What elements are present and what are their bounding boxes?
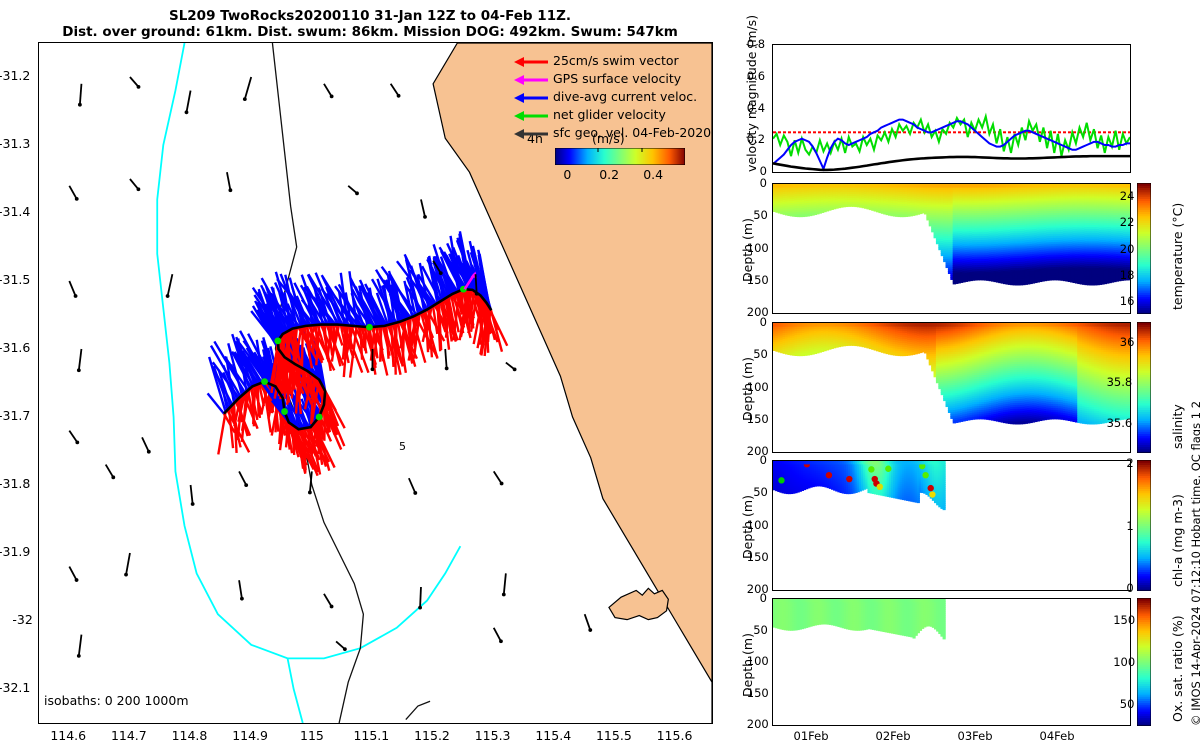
- sfc-geo-arrow-head: [418, 606, 422, 610]
- sfc-geo-velocity-arrow: [391, 84, 399, 96]
- sfc-geo-arrow-head: [78, 103, 82, 107]
- sfc-geo-velocity-arrow: [494, 471, 502, 483]
- sfc-geo-arrow-head: [240, 597, 244, 601]
- swim-vector: [386, 325, 388, 358]
- sfc-geo-arrow-head: [77, 654, 81, 658]
- map-x-tick: 114.6: [50, 728, 86, 743]
- map-y-tick: -31.9: [0, 544, 30, 559]
- legend-item-1: GPS surface velocity: [512, 70, 712, 88]
- map-y-tick: -31.6: [0, 340, 30, 355]
- velocity-magnitude-panel[interactable]: [772, 44, 1131, 173]
- swim-vector: [308, 427, 309, 458]
- sfc-geo-velocity-arrow: [476, 274, 477, 294]
- sfc-geo-arrow-head: [371, 367, 375, 371]
- contour-label-5: 5: [399, 440, 406, 453]
- legend-item-3: net glider velocity: [512, 106, 712, 124]
- sfc-geo-arrow-head: [445, 367, 449, 371]
- sfc-geo-velocity-arrow: [130, 179, 138, 189]
- sfc-geo-arrow-head: [513, 367, 517, 371]
- sfc-geo-arrow-head: [355, 191, 359, 195]
- sfc-geo-velocity-arrow: [227, 172, 230, 190]
- legend-item-2: dive-avg current veloc.: [512, 88, 712, 106]
- legend-item-label: sfc geo. vel. 04-Feb-2020: [553, 125, 711, 140]
- net-glider-velocity-marker: [274, 337, 281, 344]
- sfc-geo-arrow-head: [137, 85, 141, 89]
- sfc-geo-arrow-head: [75, 578, 79, 582]
- map-x-tick: 115.3: [475, 728, 511, 743]
- sfc-geo-arrow-head: [413, 491, 417, 495]
- map-x-tick: 114.9: [232, 728, 268, 743]
- legend-colorbar-tick: 0: [563, 167, 571, 182]
- net-glider-velocity-marker: [261, 378, 268, 385]
- sfc-geo-arrow-head: [228, 188, 232, 192]
- sfc-geo-arrow-head: [330, 94, 334, 98]
- map-y-tick: -32: [12, 612, 32, 627]
- sfc-geo-velocity-arrow: [494, 628, 501, 641]
- map-legend: 25cm/s swim vectorGPS surface velocitydi…: [512, 52, 712, 142]
- sfc-geo-arrow-head: [308, 491, 312, 495]
- sfc-geo-velocity-arrow: [69, 281, 75, 296]
- legend-item-label: 25cm/s swim vector: [553, 53, 679, 68]
- map-x-tick: 115.5: [596, 728, 632, 743]
- swim-vector: [380, 326, 381, 362]
- sfc-geo-velocity-arrow: [142, 437, 149, 451]
- map-y-tick: -31.7: [0, 408, 30, 423]
- sfc-geo-arrow-head: [502, 593, 506, 597]
- map-x-tick: 115.1: [353, 728, 389, 743]
- sfc-geo-velocity-arrow: [79, 635, 82, 656]
- legend-item-0: 25cm/s swim vector: [512, 52, 712, 70]
- map-y-tick: -31.5: [0, 272, 30, 287]
- map-x-tick: 115.2: [414, 728, 450, 743]
- island-polygon: [609, 588, 668, 619]
- sfc-geo-arrow-head: [588, 628, 592, 632]
- arrow-left-icon: [512, 108, 550, 124]
- map-y-tick: -31.4: [0, 204, 30, 219]
- sfc-geo-velocity-arrow: [191, 485, 193, 504]
- sfc-geo-velocity-arrow: [80, 84, 82, 105]
- sfc-geo-arrow-head: [343, 647, 347, 651]
- sfc-geo-velocity-arrow: [186, 91, 190, 113]
- map-y-tick: -31.2: [0, 68, 30, 83]
- swim-vector: [391, 324, 393, 367]
- sfc-geo-arrow-head: [166, 294, 170, 298]
- sfc-geo-velocity-arrow: [504, 573, 506, 594]
- sfc-geo-arrow-head: [439, 271, 443, 275]
- net-glider-velocity-marker: [366, 324, 373, 331]
- arrow-left-icon: [512, 90, 550, 106]
- sfc-geo-arrow-head: [185, 110, 189, 114]
- net-glider-velocity-marker: [281, 408, 288, 415]
- sfc-geo-velocity-arrow: [168, 274, 173, 296]
- sfc-geo-arrow-head: [397, 94, 401, 98]
- sfc-geo-arrow-head: [77, 368, 81, 372]
- sfc-geo-velocity-arrow: [130, 77, 139, 87]
- page-title-line1: SL209 TwoRocks20200110 31-Jan 12Z to 04-…: [0, 8, 740, 24]
- sfc-geo-velocity-arrow: [245, 77, 251, 99]
- sfc-geo-arrow-head: [124, 573, 128, 577]
- sfc-geo-velocity-arrow: [69, 431, 77, 443]
- sfc-geo-velocity-arrow: [79, 349, 82, 370]
- sfc-geo-arrow-head: [244, 483, 248, 487]
- legend-colorbar-tick: 0.2: [599, 167, 619, 182]
- sfc-geo-velocity-arrow: [420, 587, 421, 608]
- swim-vector: [258, 384, 259, 416]
- velocity-y-axis-label: velocity magnitude (m/s): [744, 15, 759, 172]
- sfc-geo-arrow-head: [147, 450, 151, 454]
- sfc-geo-arrow-head: [137, 187, 141, 191]
- sfc-geo-velocity-arrow: [69, 567, 76, 580]
- sfc-geo-velocity-arrow: [421, 199, 425, 216]
- sfc-geo-arrow-head: [75, 197, 79, 201]
- map-y-tick: -31.3: [0, 136, 30, 151]
- sfc-geo-arrow-head: [330, 605, 334, 609]
- arrow-left-icon: [512, 72, 550, 88]
- map-y-tick: -31.8: [0, 476, 30, 491]
- velocity-quiver-field: [208, 231, 508, 475]
- isobath-200m-branch: [288, 658, 303, 723]
- sfc-geo-velocity-arrow: [445, 349, 446, 368]
- sfc-geo-arrow-head: [500, 482, 504, 486]
- sfc-geo-velocity-arrow: [324, 84, 332, 97]
- map-x-tick: 115: [300, 728, 324, 743]
- swim-vector: [234, 403, 237, 453]
- sfc-geo-velocity-arrow: [239, 580, 242, 598]
- isobath-fragment: [406, 701, 430, 719]
- sfc-geo-velocity-arrow: [69, 186, 76, 199]
- swim-vector: [365, 327, 366, 351]
- map-x-tick: 115.6: [657, 728, 693, 743]
- sfc-geo-velocity-arrow: [239, 471, 246, 485]
- sfc-geo-velocity-arrow: [324, 594, 332, 607]
- velocity-magnitude-plot[interactable]: [773, 45, 1130, 172]
- sfc-geo-velocity-arrow: [409, 478, 415, 493]
- net-glider-velocity-marker: [316, 414, 323, 421]
- page-title-line2: Dist. over ground: 61km. Dist. swum: 86k…: [0, 24, 740, 40]
- legend-item-label: GPS surface velocity: [553, 71, 681, 86]
- legend-colorbar-tick: 0.4: [643, 167, 663, 182]
- legend-item-label: net glider velocity: [553, 107, 666, 122]
- swim-vector: [302, 326, 303, 371]
- map-y-tick: -32.1: [0, 680, 30, 695]
- sfc-geo-arrow-head: [499, 639, 503, 643]
- sfc-geo-velocity-arrow: [106, 465, 114, 478]
- temperature-panel[interactable]: [772, 183, 1131, 314]
- map-x-tick: 115.4: [535, 728, 571, 743]
- sfc-geo-arrow-head: [191, 502, 195, 506]
- sfc-geo-arrow-head: [423, 215, 427, 219]
- sfc-geo-arrow-head: [75, 440, 79, 444]
- sfc-geo-arrow-head: [243, 97, 247, 101]
- isobath-note: isobaths: 0 200 1000m: [44, 693, 189, 708]
- temperature-section-plot[interactable]: [773, 184, 1130, 313]
- sfc-geo-arrow-head: [74, 294, 78, 298]
- arrow-left-icon: [512, 126, 550, 142]
- legend-item-label: dive-avg current veloc.: [553, 89, 697, 104]
- mainland-polygon: [433, 43, 712, 723]
- legend-colorbar-title: (m/s): [592, 131, 625, 146]
- legend-colorbar: [555, 148, 685, 165]
- arrow-left-icon: [512, 54, 550, 70]
- sfc-geo-velocity-arrow: [585, 614, 591, 630]
- sfc-geo-velocity-arrow: [126, 553, 130, 575]
- sfc-geo-arrow-head: [111, 475, 115, 479]
- sfc-geo-arrow-head: [475, 292, 479, 296]
- swim-vector: [218, 412, 225, 455]
- map-x-tick: 114.7: [111, 728, 147, 743]
- map-x-tick: 114.8: [172, 728, 208, 743]
